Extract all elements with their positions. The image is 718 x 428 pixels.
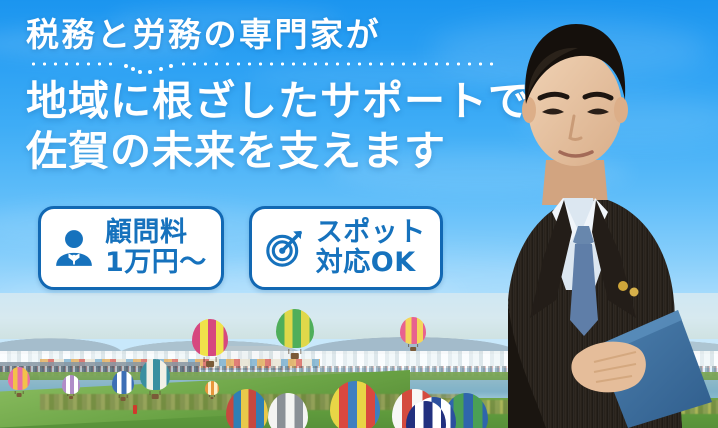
balloon-rainbow-stripe	[226, 389, 268, 428]
businessman-portrait	[468, 0, 718, 428]
lapel-pin	[630, 288, 639, 297]
balloon-white-dot	[268, 393, 308, 428]
dotted-dip-dot	[159, 67, 163, 71]
balloon-basket	[69, 396, 73, 399]
balloon-orange-dot	[205, 381, 219, 399]
dotted-dip-dot	[124, 64, 128, 68]
dotted-segment-right	[178, 62, 498, 66]
balloon-envelope	[62, 375, 80, 394]
balloon-envelope	[205, 381, 219, 395]
businessman-icon	[51, 225, 97, 271]
balloon-basket	[152, 394, 159, 399]
badge-advisory-fee-line-2: 1万円〜	[105, 248, 207, 278]
balloon-envelope	[400, 317, 426, 344]
balloon-basket	[121, 397, 126, 401]
balloon-basket	[206, 361, 214, 367]
balloon-envelope	[8, 367, 30, 390]
dotted-dip-dot	[138, 70, 142, 74]
badge-spot-support-line-2: 対応OK	[316, 248, 426, 278]
hero-banner: 税務と労務の専門家が 地域に根ざしたサポートで 佐賀の未来を支えます	[0, 0, 718, 428]
balloon-envelope	[226, 389, 268, 428]
balloon-lavender	[62, 375, 80, 399]
balloon-blue-white	[112, 371, 134, 401]
dotted-dip-dot	[131, 67, 135, 71]
balloon-magenta	[192, 319, 228, 367]
balloon-envelope	[268, 393, 308, 428]
dotted-dip-dot	[169, 64, 173, 68]
dotted-underline	[28, 58, 496, 72]
balloon-envelope	[192, 319, 228, 356]
balloon-basket	[210, 397, 213, 399]
balloon-yellow-text	[330, 381, 380, 428]
target-arrow-icon	[262, 225, 308, 271]
headline-block: 税務と労務の専門家が 地域に根ざしたサポートで 佐賀の未来を支えます	[26, 14, 496, 176]
dotted-dip-dot	[148, 70, 152, 74]
dotted-segment-left	[28, 62, 120, 66]
badge-row: 顧問料 1万円〜 スポット 対応OK	[38, 206, 443, 290]
headline-line-2: 地域に根ざしたサポートで	[26, 76, 496, 126]
balloon-envelope	[112, 371, 134, 394]
balloon-envelope	[406, 401, 446, 428]
badge-advisory-fee-line-1: 顧問料	[105, 218, 207, 248]
balloon-basket	[17, 393, 22, 397]
balloon-basket	[291, 353, 299, 359]
lapel-pin	[618, 281, 628, 291]
headline-line-1: 税務と労務の専門家が	[26, 14, 496, 56]
badge-spot-support-text: スポット 対応OK	[316, 218, 426, 278]
balloon-checker-navy	[406, 401, 446, 428]
badge-spot-support-line-1: スポット	[316, 218, 426, 248]
balloon-green-check	[276, 309, 314, 359]
walking-person	[133, 405, 137, 414]
balloon-teal-stripe	[140, 359, 170, 399]
balloon-envelope	[276, 309, 314, 348]
balloon-rosy	[400, 317, 426, 351]
balloon-pink-small	[8, 367, 30, 397]
badge-advisory-fee-text: 顧問料 1万円〜	[105, 218, 207, 278]
headline-line-3: 佐賀の未来を支えます	[26, 126, 496, 176]
balloon-envelope	[140, 359, 170, 390]
badge-spot-support[interactable]: スポット 対応OK	[249, 206, 443, 290]
balloon-envelope	[330, 381, 380, 428]
badge-advisory-fee[interactable]: 顧問料 1万円〜	[38, 206, 224, 290]
balloon-basket	[410, 347, 416, 351]
